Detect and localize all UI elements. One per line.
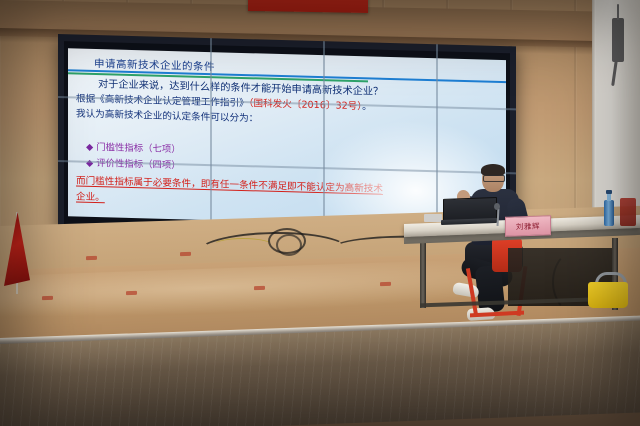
diamond-bullet-icon: ◆	[86, 158, 93, 169]
slide-bullet-1-text: 门槛性指标（七项）	[96, 142, 180, 155]
coiled-cable-inner	[276, 234, 302, 256]
laptop-base	[441, 218, 497, 225]
bottle-cap	[606, 190, 612, 194]
red-banner	[248, 0, 368, 13]
red-item-on-table	[620, 198, 636, 226]
bottle-body	[604, 200, 614, 226]
panel-seam	[210, 38, 212, 238]
red-flag	[2, 212, 34, 294]
water-bottle	[604, 192, 614, 226]
panel-seam	[323, 41, 325, 241]
floor-marker	[86, 256, 97, 260]
papers	[424, 214, 442, 222]
slide-bullet-1: ◆门槛性指标（七项）	[86, 139, 181, 156]
floor-marker	[42, 296, 53, 300]
floor-marker	[254, 286, 265, 290]
name-plate: 刘雅辉	[505, 215, 551, 237]
bag-body	[588, 282, 628, 308]
lecture-hall-photo: 申请高新技术企业的条件 对于企业来说，达到什么样的条件才能开始申请高新技术企业？…	[0, 0, 640, 426]
floor-marker	[380, 282, 391, 286]
presenter-leg	[475, 265, 506, 313]
wall-mounted-device	[612, 18, 624, 62]
slide-red-note-line-2: 企业。	[76, 188, 105, 203]
eyeglasses-icon	[483, 175, 505, 182]
yellow-cable	[212, 238, 274, 254]
laptop	[441, 197, 497, 227]
floor-marker	[126, 291, 137, 295]
table-leg	[420, 242, 426, 308]
floor-marker	[180, 252, 191, 256]
diamond-bullet-icon: ◆	[86, 142, 93, 153]
yellow-handbag	[588, 274, 628, 308]
slide-red-note-line-1: 而门槛性指标属于必要条件，即有任一条件不满足即不能认定为高新技术	[76, 172, 383, 194]
slide-line-2-suffix: 。	[362, 101, 372, 112]
flag-cloth	[4, 212, 30, 286]
device-cord-top	[617, 4, 619, 20]
name-plate-text: 刘雅辉	[516, 220, 540, 232]
microphone-icon	[494, 203, 500, 210]
